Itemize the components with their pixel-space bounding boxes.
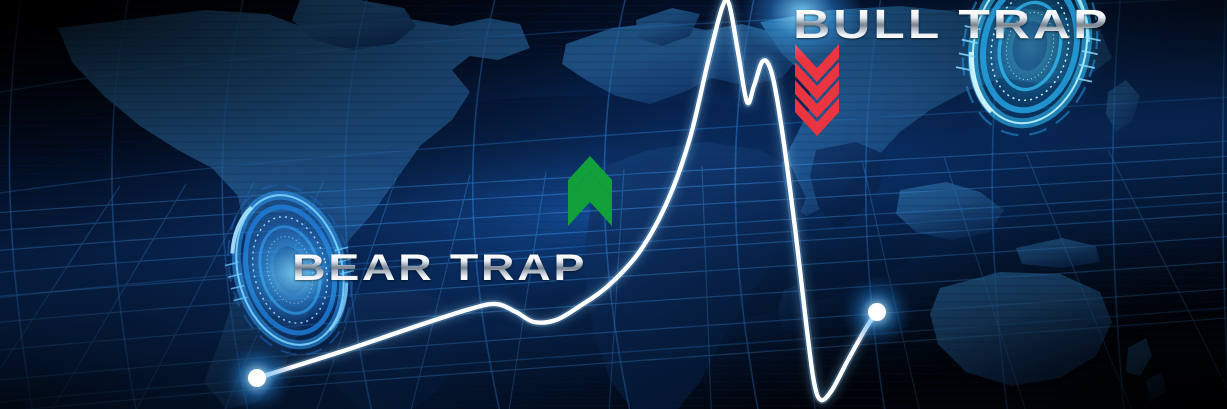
bull-trap-label: BULL TRAP — [793, 4, 1110, 45]
price-line-chart — [0, 0, 1227, 409]
price-line — [257, 0, 877, 400]
end-point — [868, 303, 886, 321]
bear-trap-label: BEAR TRAP — [292, 249, 587, 286]
banner-root: BULL TRAP BEAR TRAP — [0, 0, 1227, 409]
start-point — [248, 369, 266, 387]
price-line-glow — [257, 0, 877, 400]
